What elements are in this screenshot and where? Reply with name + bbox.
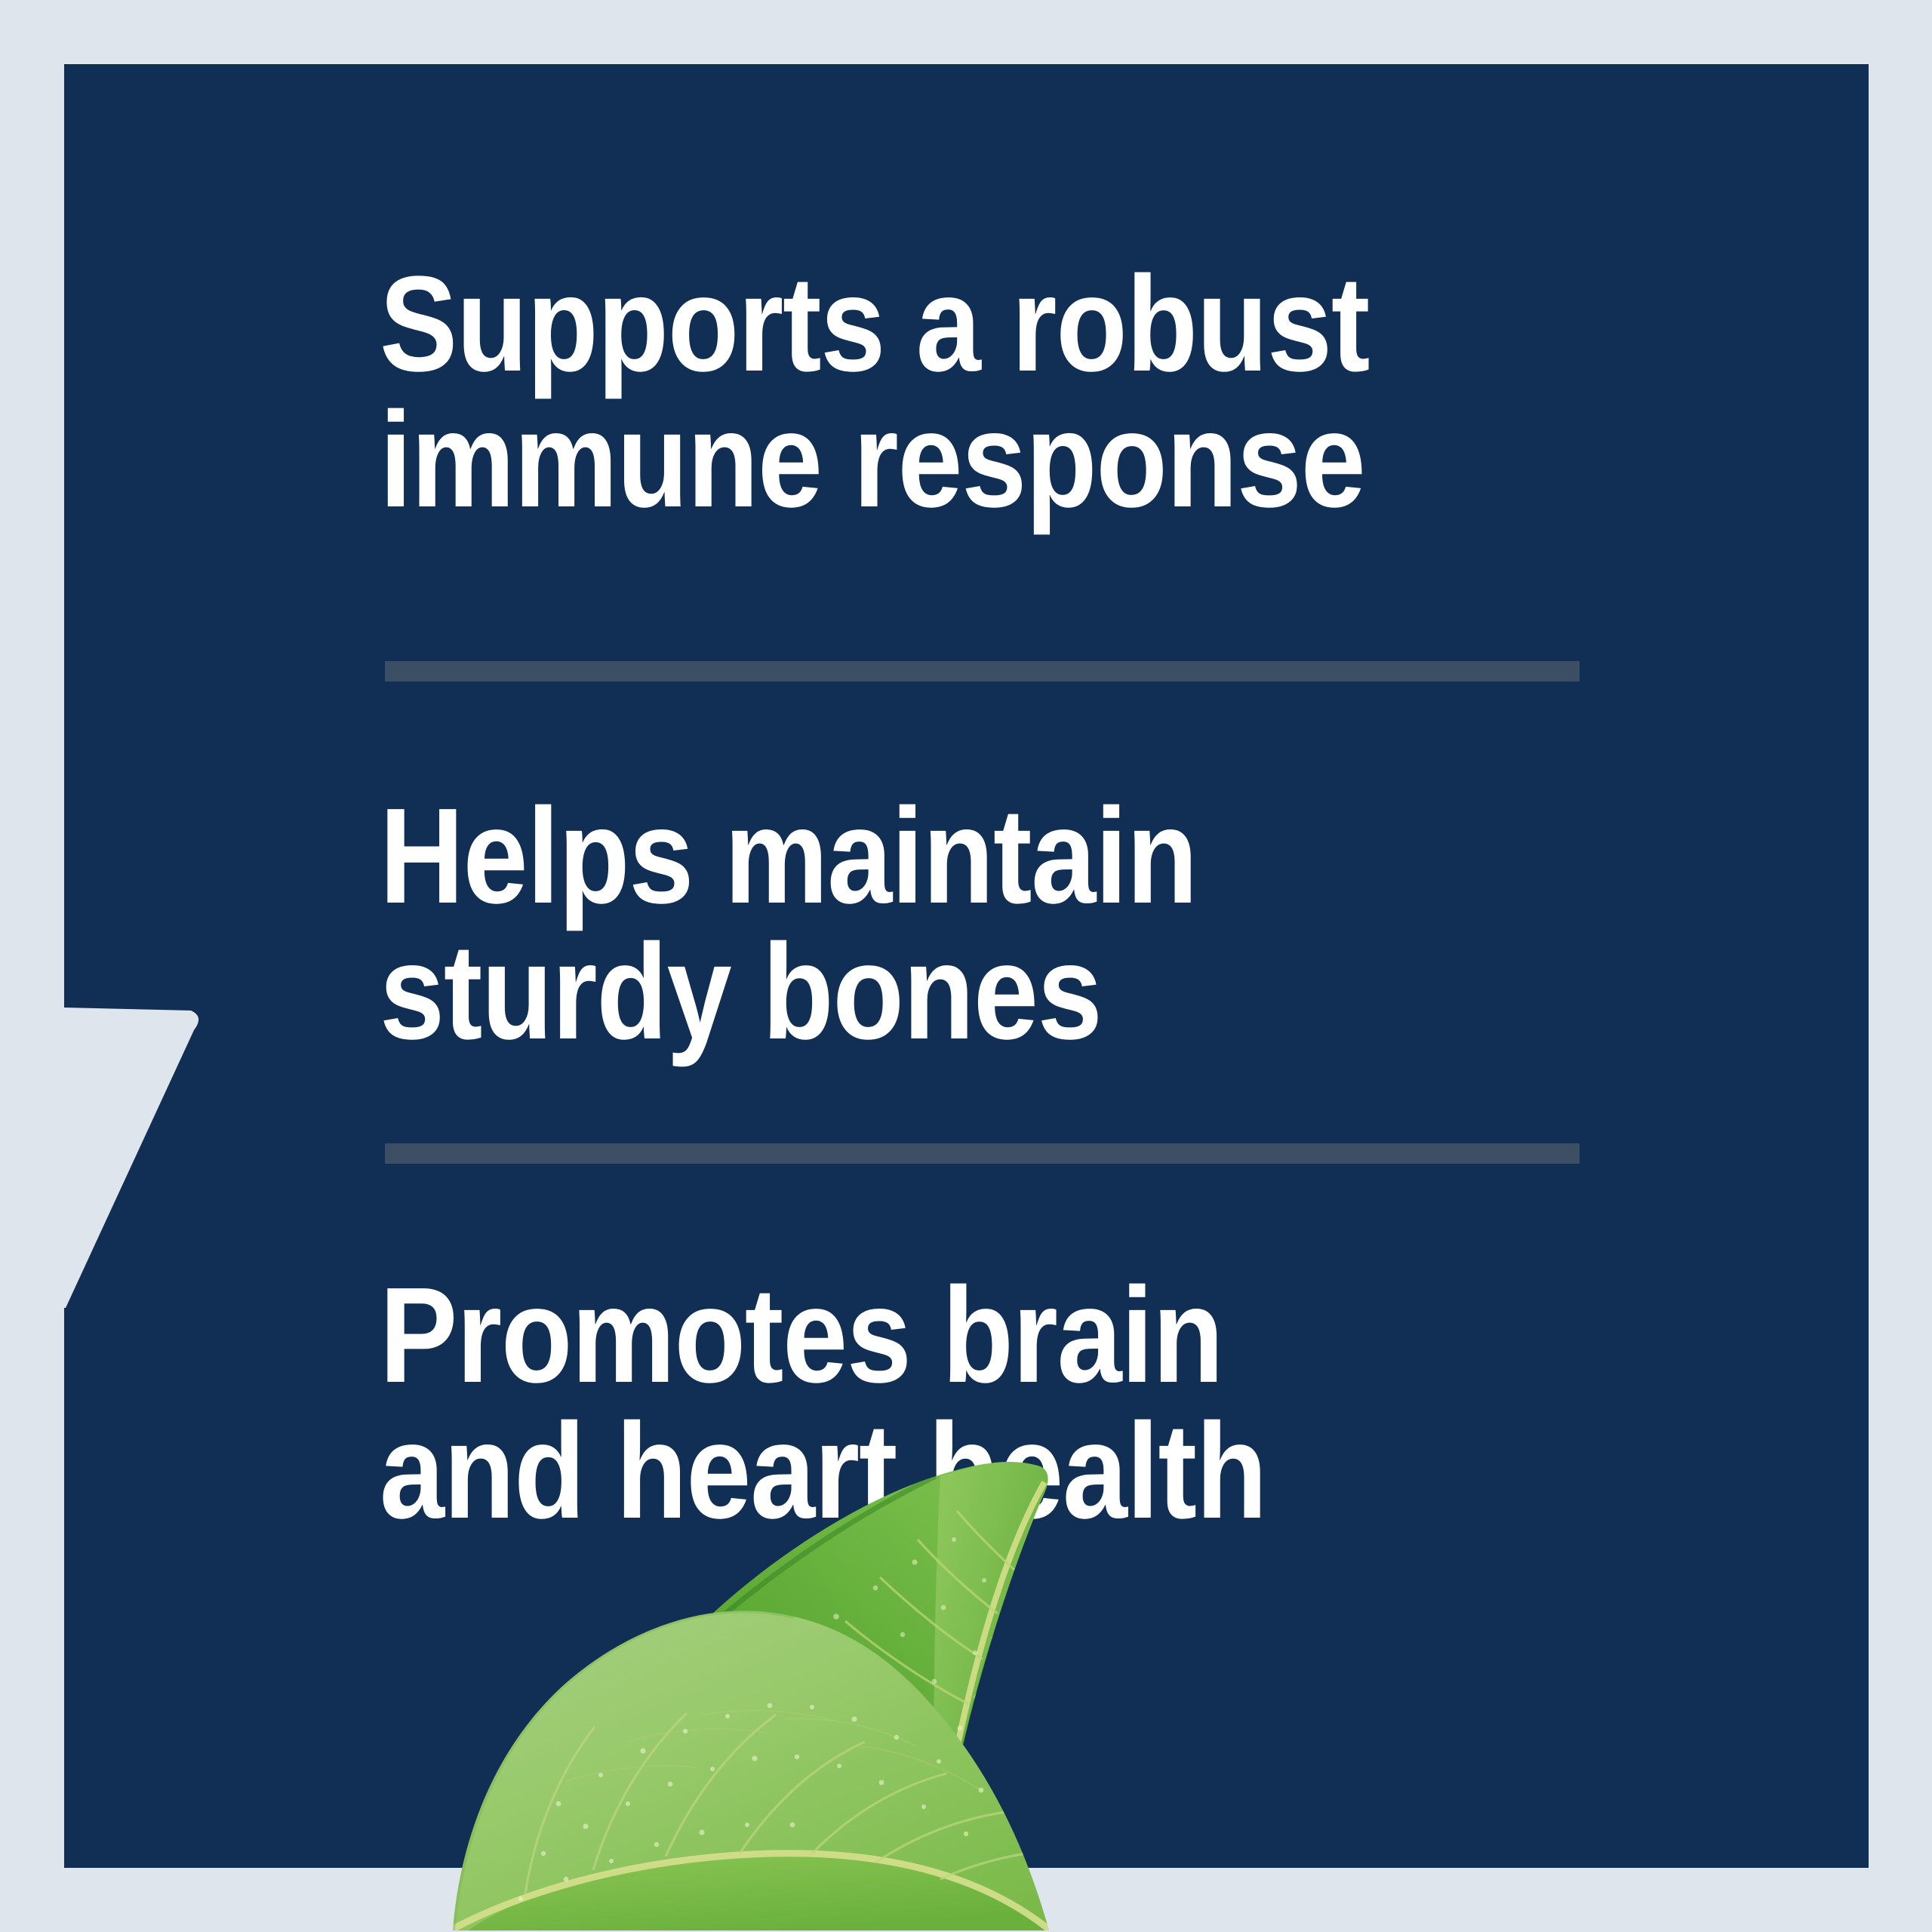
benefit-item-bones: Helps maintain sturdy bones bbox=[380, 789, 1197, 1060]
marketing-graphic-canvas: Supports a robust immune response Helps … bbox=[0, 0, 1932, 1932]
benefit-item-immune: Supports a robust immune response bbox=[380, 257, 1369, 528]
chevron-right-icon bbox=[64, 509, 275, 1309]
divider-2 bbox=[385, 1143, 1580, 1164]
navy-content-panel: Supports a robust immune response Helps … bbox=[64, 64, 1869, 1868]
benefit-item-brain-heart: Promotes brain and heart health bbox=[380, 1268, 1266, 1540]
divider-1 bbox=[385, 661, 1580, 681]
